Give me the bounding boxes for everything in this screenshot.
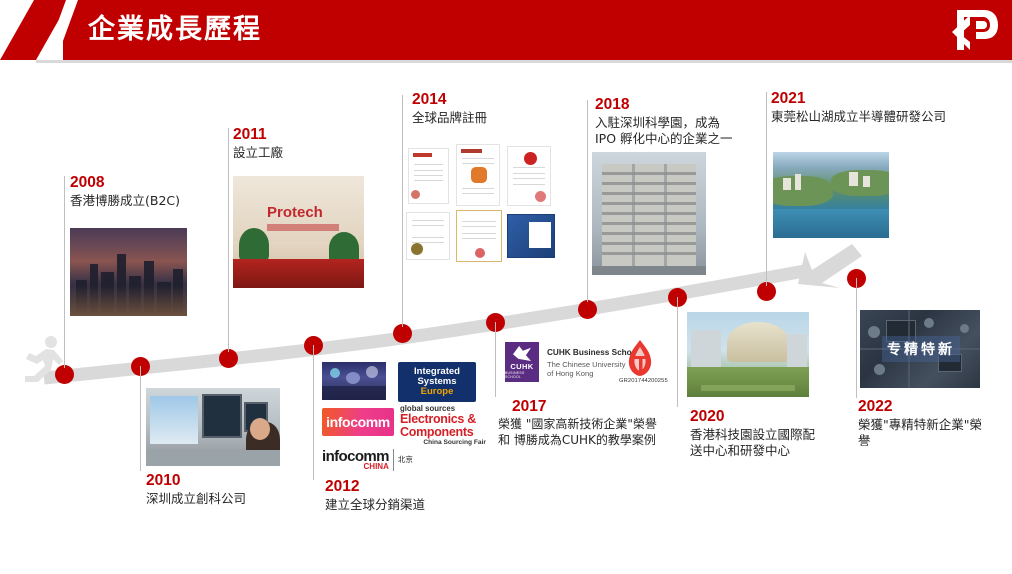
milestone-year-2018: 2018 [595, 96, 733, 114]
header-underline [36, 60, 1012, 63]
connector-2020 [677, 297, 678, 407]
connector-2012 [313, 345, 314, 480]
ise-line-3: Europe [414, 387, 460, 397]
connector-2014 [402, 95, 403, 327]
hong-kong-science-park-photo [687, 312, 809, 397]
zhuan-jing-te-xin-badge: 专精特新 [882, 336, 960, 362]
milestone-year-2017: 2017 [512, 398, 676, 416]
milestone-2012: 2012 建立全球分銷渠道 [325, 478, 425, 513]
milestone-year-2020: 2020 [690, 408, 820, 426]
infocomm-logo: infocomm [322, 408, 394, 436]
connector-2010 [140, 366, 141, 471]
milestone-2021: 2021 東莞松山湖成立半導體研發公司 [771, 90, 946, 125]
connector-2017 [495, 322, 496, 397]
milestone-desc-2012: 建立全球分銷渠道 [325, 497, 425, 513]
milestone-desc-2020: 香港科技園設立國際配 送中心和研發中心 [690, 427, 820, 459]
connector-2018 [587, 100, 588, 302]
office-workstation-photo [146, 388, 280, 466]
songshan-lake-aerial-photo [773, 152, 889, 238]
integrated-systems-europe-logo: Integrated Systems Europe [398, 362, 476, 402]
milestone-year-2010: 2010 [146, 472, 246, 490]
milestone-year-2012: 2012 [325, 478, 425, 496]
trademark-certificates-collage [404, 138, 557, 265]
slide-header: 企業成長歷程 [0, 0, 1012, 63]
milestone-2022: 2022 榮獲"專精特新企業"榮 譽 [858, 398, 986, 449]
milestone-year-2014: 2014 [412, 91, 487, 109]
milestone-2011: 2011 設立工廠 [233, 126, 283, 161]
connector-2008 [64, 176, 65, 368]
milestone-desc-2017: 榮獲 "國家高新技術企業"榮譽 和 博勝成為CUHK的教學案例 [498, 417, 676, 448]
milestone-desc-2014: 全球品牌註冊 [412, 110, 487, 126]
hong-kong-skyline-photo [70, 228, 187, 316]
hitech-certificate-number: GR201744200255 [619, 378, 668, 384]
milestone-desc-2022: 榮獲"專精特新企業"榮 譽 [858, 417, 986, 449]
protech-p-logo [950, 6, 1000, 54]
infocomm-china-city: 北京 [398, 455, 413, 464]
protech-sign-text: Protech [267, 204, 323, 221]
milestone-2017: 2017 榮獲 "國家高新技術企業"榮譽 和 博勝成為CUHK的教學案例 [498, 398, 676, 448]
milestone-year-2008: 2008 [70, 174, 180, 192]
milestone-2008: 2008 香港博勝成立(B2C) [70, 174, 180, 209]
milestone-desc-2008: 香港博勝成立(B2C) [70, 193, 180, 209]
slide-root: 企業成長歷程 2008 香港博勝成立(B2C) [0, 0, 1012, 574]
milestone-2018: 2018 入駐深圳科學園，成為 IPO 孵化中心的企業之一 [595, 96, 733, 147]
cuhk-phoenix-icon [513, 346, 531, 361]
cuhk-mark-label: CUHK [510, 362, 533, 371]
milestone-2020: 2020 香港科技園設立國際配 送中心和研發中心 [690, 408, 820, 459]
connector-2011 [228, 128, 229, 352]
cuhk-mark-sub: BUSINESS SCHOOL [505, 371, 539, 379]
global-sources-electronics-components-logo: global sources Electronics & Components … [400, 404, 486, 446]
infocomm-label: infocomm [326, 414, 390, 430]
shenzhen-science-park-building-photo [592, 152, 706, 275]
gs-line-4: China Sourcing Fair [400, 439, 486, 446]
trade-show-booth-photo [322, 362, 386, 400]
circuit-board-photo: 专精特新 [860, 310, 980, 388]
milestone-desc-2011: 設立工廠 [233, 145, 283, 161]
page-title: 企業成長歷程 [88, 10, 262, 50]
infocomm-china-beijing-logo: infocomm CHINA 北京 [322, 448, 413, 471]
milestone-desc-2010: 深圳成立創科公司 [146, 491, 246, 507]
protech-factory-lobby-photo: Protech [233, 176, 364, 288]
gs-line-3: Components [400, 426, 486, 439]
timeline-dot-2018[interactable] [578, 300, 597, 319]
milestone-desc-2021: 東莞松山湖成立半導體研發公司 [771, 109, 946, 125]
connector-2021 [766, 92, 767, 286]
milestone-year-2011: 2011 [233, 126, 283, 144]
milestone-desc-2018: 入駐深圳科學園，成為 IPO 孵化中心的企業之一 [595, 115, 733, 147]
milestone-year-2021: 2021 [771, 90, 946, 108]
milestone-2010: 2010 深圳成立創科公司 [146, 472, 246, 507]
connector-2022 [856, 278, 857, 398]
milestone-year-2022: 2022 [858, 398, 986, 416]
national-high-tech-enterprise-flame-logo [620, 338, 660, 378]
cuhk-subtitle: The Chinese University of Hong Kong [547, 360, 626, 378]
milestone-2014: 2014 全球品牌註冊 [412, 91, 487, 126]
